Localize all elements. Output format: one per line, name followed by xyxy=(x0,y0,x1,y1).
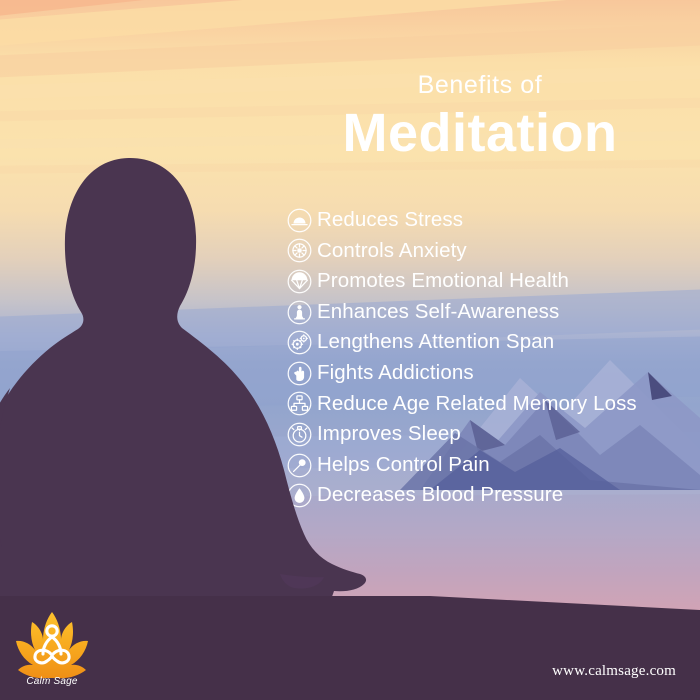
cloud-band xyxy=(0,0,700,52)
footer-ground-bar xyxy=(0,596,700,700)
logo-wordmark: Calm Sage xyxy=(12,676,92,687)
meditating-person-silhouette xyxy=(0,150,400,670)
lotus-petals-icon xyxy=(16,612,88,678)
website-url[interactable]: www.calmsage.com xyxy=(552,663,676,680)
title-eyebrow: Benefits of xyxy=(280,72,680,100)
cloud-band xyxy=(0,18,700,80)
meditation-benefits-poster: Benefits of Meditation Reduces StressCon… xyxy=(0,0,700,700)
cloud-band xyxy=(0,0,700,22)
